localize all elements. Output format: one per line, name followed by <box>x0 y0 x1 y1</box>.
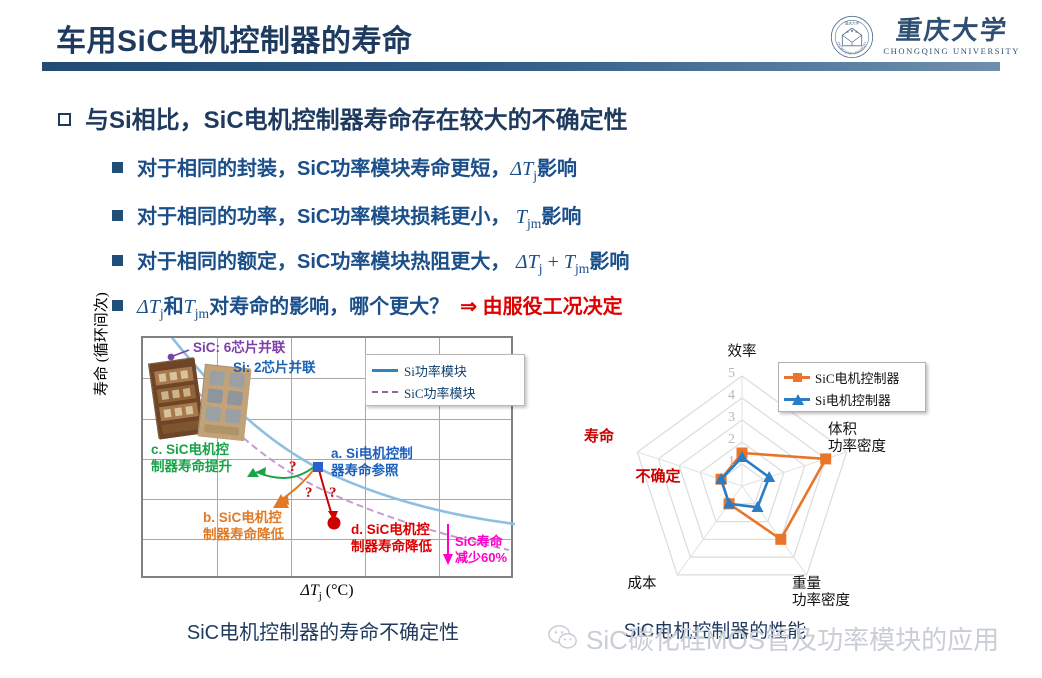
left-chart-caption: SiC电机控制器的寿命不确定性 <box>108 616 538 645</box>
radar-axis-label-uncertain: 不确定 <box>620 468 696 486</box>
sic-line-swatch-icon <box>372 391 398 393</box>
bullet-square-icon <box>112 162 123 173</box>
series-sic-polygon <box>721 453 826 539</box>
bullet-square-icon <box>112 255 123 266</box>
bullet-square-icon <box>112 300 123 311</box>
point-a-marker <box>313 462 323 472</box>
left-chart-plot: Si功率模块 SiC功率模块 SiC: 6芯片并联 Si: 2芯片并联 c. S… <box>141 336 513 578</box>
left-chart-xlabel: ΔTj (°C) <box>141 582 513 602</box>
sic-marker-swatch-icon <box>784 371 810 384</box>
annotation-c: c. SiC电机控制器寿命提升 <box>151 442 232 476</box>
sic-module-photo <box>148 357 204 439</box>
legend-label-si: Si功率模块 <box>404 361 467 380</box>
annotation-sic-chips: SiC: 6芯片并联 <box>193 340 285 357</box>
radar-axis-label-volume-density: 体积功率密度 <box>828 422 886 457</box>
radar-tick-1: 1 <box>728 454 735 470</box>
bullet-sub-4: ΔTj和Tjm对寿命的影响，哪个更大？ ⇒ 由服役工况决定 <box>112 290 623 322</box>
bullet-sub-2-label: 对于相同的功率，SiC功率模块损耗更小， Tjm影响 <box>137 200 581 232</box>
bullet-sub-4-label: ΔTj和Tjm对寿命的影响，哪个更大？ ⇒ 由服役工况决定 <box>137 290 623 322</box>
annotation-si-chips: Si: 2芯片并联 <box>233 360 316 377</box>
radar-tick-2: 2 <box>728 432 735 448</box>
radar-legend-label-si: Si电机控制器 <box>815 390 891 409</box>
left-chart-ylabel: 寿命 (循环间次) <box>90 266 111 396</box>
annotation-question-3: ? <box>329 484 337 503</box>
bullet-sub-3: 对于相同的额定，SiC功率模块热阻更大， ΔTj + Tjm影响 <box>112 245 629 277</box>
si-line-swatch-icon <box>372 369 398 372</box>
radar-legend-item-si: Si电机控制器 <box>784 388 920 410</box>
left-chart-legend: Si功率模块 SiC功率模块 <box>365 354 525 406</box>
radar-chart-caption: SiC电机控制器的性能 <box>480 616 950 643</box>
page-title: 车用SiC电机控制器的寿命 <box>56 16 413 60</box>
radar-axis-label-efficiency: 效率 <box>712 344 772 361</box>
bullet-sub-1: 对于相同的封装，SiC功率模块寿命更短，ΔTj影响 <box>112 152 577 184</box>
slide: 车用SiC电机控制器的寿命 重庆大学 CHONGQING UNIVERSITY … <box>0 0 1042 678</box>
radar-tick-4: 4 <box>728 388 735 404</box>
header-divider <box>42 62 1000 71</box>
annotation-question-1: ? <box>289 458 297 477</box>
si-marker-swatch-icon <box>784 393 810 406</box>
annotation-question-2: ? <box>305 484 313 503</box>
bullet-square-hollow-icon <box>58 113 71 126</box>
radar-axis-label-cost: 成本 <box>612 576 672 593</box>
annotation-a: a. Si电机控制器寿命参照 <box>331 446 413 480</box>
radar-legend: SiC电机控制器 Si电机控制器 <box>778 362 926 412</box>
radar-chart: 5 4 3 2 1 效率 体积功率密度 重量功率密度 成本 寿命 不确定 SiC… <box>560 336 1030 636</box>
bullet-square-icon <box>112 210 123 221</box>
annotation-d: d. SiC电机控制器寿命降低 <box>351 522 432 556</box>
left-chart: 寿命 (循环间次) <box>108 336 538 636</box>
annotation-drop: SiC寿命减少60% <box>455 534 507 567</box>
annotation-b: b. SiC电机控制器寿命降低 <box>203 510 284 544</box>
radar-axis-label-weight-density: 重量功率密度 <box>792 576 850 611</box>
radar-axis-label-lifetime: 寿命 <box>566 428 632 446</box>
radar-legend-label-sic: SiC电机控制器 <box>815 368 900 387</box>
bullet-main-label: 与Si相比，SiC电机控制器寿命存在较大的不确定性 <box>85 100 628 135</box>
bullet-sub-2: 对于相同的功率，SiC功率模块损耗更小， Tjm影响 <box>112 200 581 232</box>
radar-tick-5: 5 <box>728 366 735 382</box>
radar-legend-item-sic: SiC电机控制器 <box>784 366 920 388</box>
bullet-sub-1-label: 对于相同的封装，SiC功率模块寿命更短，ΔTj影响 <box>137 152 577 184</box>
logo-cn-text: 重庆大学 <box>894 18 1009 44</box>
legend-label-sic: SiC功率模块 <box>404 383 476 402</box>
university-logo: 重庆大学 CHONGQING UNIVERSITY 重庆大学 CHONGQING… <box>830 14 1020 60</box>
legend-item-si: Si功率模块 <box>372 359 518 381</box>
university-seal-icon: 重庆大学 CHONGQING UNIVERSITY <box>830 15 874 59</box>
logo-en-text: CHONGQING UNIVERSITY <box>883 46 1020 56</box>
radar-tick-3: 3 <box>728 410 735 426</box>
bullet-main: 与Si相比，SiC电机控制器寿命存在较大的不确定性 <box>58 100 628 135</box>
svg-text:重庆大学: 重庆大学 <box>845 21 860 26</box>
legend-item-sic: SiC功率模块 <box>372 381 518 403</box>
point-d-marker <box>328 517 341 530</box>
bullet-sub-3-label: 对于相同的额定，SiC功率模块热阻更大， ΔTj + Tjm影响 <box>137 245 629 277</box>
